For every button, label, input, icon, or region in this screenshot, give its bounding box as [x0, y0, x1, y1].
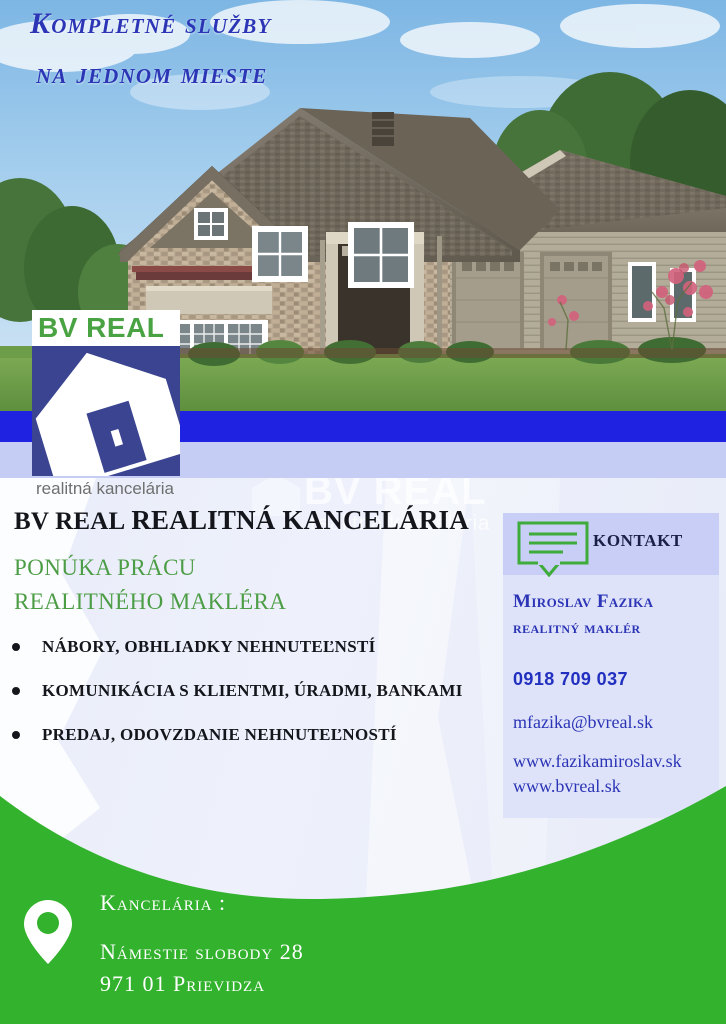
main-content: BV REAL REALITNÁ KANCELÁRIA PONÚKA PRÁCU…	[0, 505, 500, 769]
contact-header: KONTAKT	[503, 513, 719, 575]
logo-name: BV REAL	[32, 310, 180, 346]
bullet-icon	[12, 731, 20, 739]
contact-email[interactable]: mfazika@bvreal.sk	[503, 712, 719, 733]
office-city: 971 01 Prievidza	[100, 968, 304, 1000]
company-title-bold: BV REAL	[14, 508, 125, 535]
list-item: PREDAJ, ODOVZDANIE NEHNUTEĽNOSTÍ	[0, 725, 500, 745]
contact-name: Miroslav Fazika	[503, 589, 719, 615]
logo: BV REAL realitná kancelária	[32, 310, 180, 502]
contact-website-1[interactable]: www.fazikamiroslav.sk	[513, 749, 719, 774]
duty-text: KOMUNIKÁCIA S KLIENTMI, ÚRADMI, BANKAMI	[42, 681, 463, 700]
house-icon	[32, 346, 180, 476]
headline: Kompletné služby na jednom mieste	[0, 4, 420, 94]
headline-line-1: Kompletné služby	[0, 4, 420, 44]
speech-bubble-icon	[517, 521, 589, 582]
duty-text: PREDAJ, ODOVZDANIE NEHNUTEĽNOSTÍ	[42, 725, 397, 744]
office-address: Kancelária : Námestie slobody 28 971 01 …	[100, 888, 304, 1000]
duties-list: NÁBORY, OBHLIADKY NEHNUTEĽNSTÍ KOMUNIKÁC…	[0, 637, 500, 745]
logo-mark	[32, 346, 180, 476]
office-label: Kancelária :	[100, 888, 304, 918]
company-title: BV REAL REALITNÁ KANCELÁRIA	[0, 505, 500, 537]
offer-line-1: PONÚKA PRÁCU	[0, 551, 500, 585]
company-title-rest: REALITNÁ KANCELÁRIA	[131, 505, 469, 535]
list-item: KOMUNIKÁCIA S KLIENTMI, ÚRADMI, BANKAMI	[0, 681, 500, 701]
duty-text: NÁBORY, OBHLIADKY NEHNUTEĽNSTÍ	[42, 637, 376, 656]
bullet-icon	[12, 687, 20, 695]
offer-line-2: REALITNÉHO MAKLÉRA	[0, 585, 500, 619]
headline-line-2: na jednom mieste	[0, 54, 420, 94]
footer: Kancelária : Námestie slobody 28 971 01 …	[0, 780, 726, 1024]
contact-heading: KONTAKT	[593, 531, 683, 551]
list-item: NÁBORY, OBHLIADKY NEHNUTEĽNSTÍ	[0, 637, 500, 657]
poster-root: Kompletné služby na jednom mieste BV REA…	[0, 0, 726, 1024]
contact-panel: KONTAKT Miroslav Fazika realitný maklér …	[503, 513, 719, 818]
office-street: Námestie slobody 28	[100, 936, 304, 968]
contact-phone[interactable]: 0918 709 037	[503, 669, 719, 690]
bullet-icon	[12, 643, 20, 651]
contact-role: realitný maklér	[503, 615, 719, 641]
logo-subtitle: realitná kancelária	[32, 476, 180, 502]
